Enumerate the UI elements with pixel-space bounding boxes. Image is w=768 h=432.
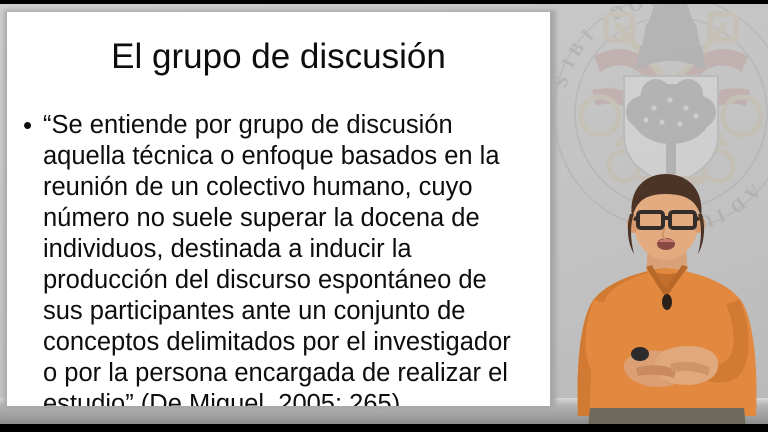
letterbox-bar-bottom <box>0 424 768 432</box>
slide-body: • “Se entiende por grupo de discusión aq… <box>21 110 541 406</box>
video-frame: S I B I D O C T A D I U V I T <box>0 0 768 432</box>
svg-text:I: I <box>578 26 598 46</box>
list-item: • “Se entiende por grupo de discusión aq… <box>21 110 541 406</box>
bullet-text: “Se entiende por grupo de discusión aque… <box>43 110 541 406</box>
slide-title: El grupo de discusión <box>7 36 550 78</box>
presentation-slide: El grupo de discusión • “Se entiende por… <box>7 12 550 406</box>
presenter-figure <box>566 172 768 424</box>
bullet-marker-icon: • <box>21 110 43 141</box>
letterbox-bar-top <box>0 0 768 4</box>
